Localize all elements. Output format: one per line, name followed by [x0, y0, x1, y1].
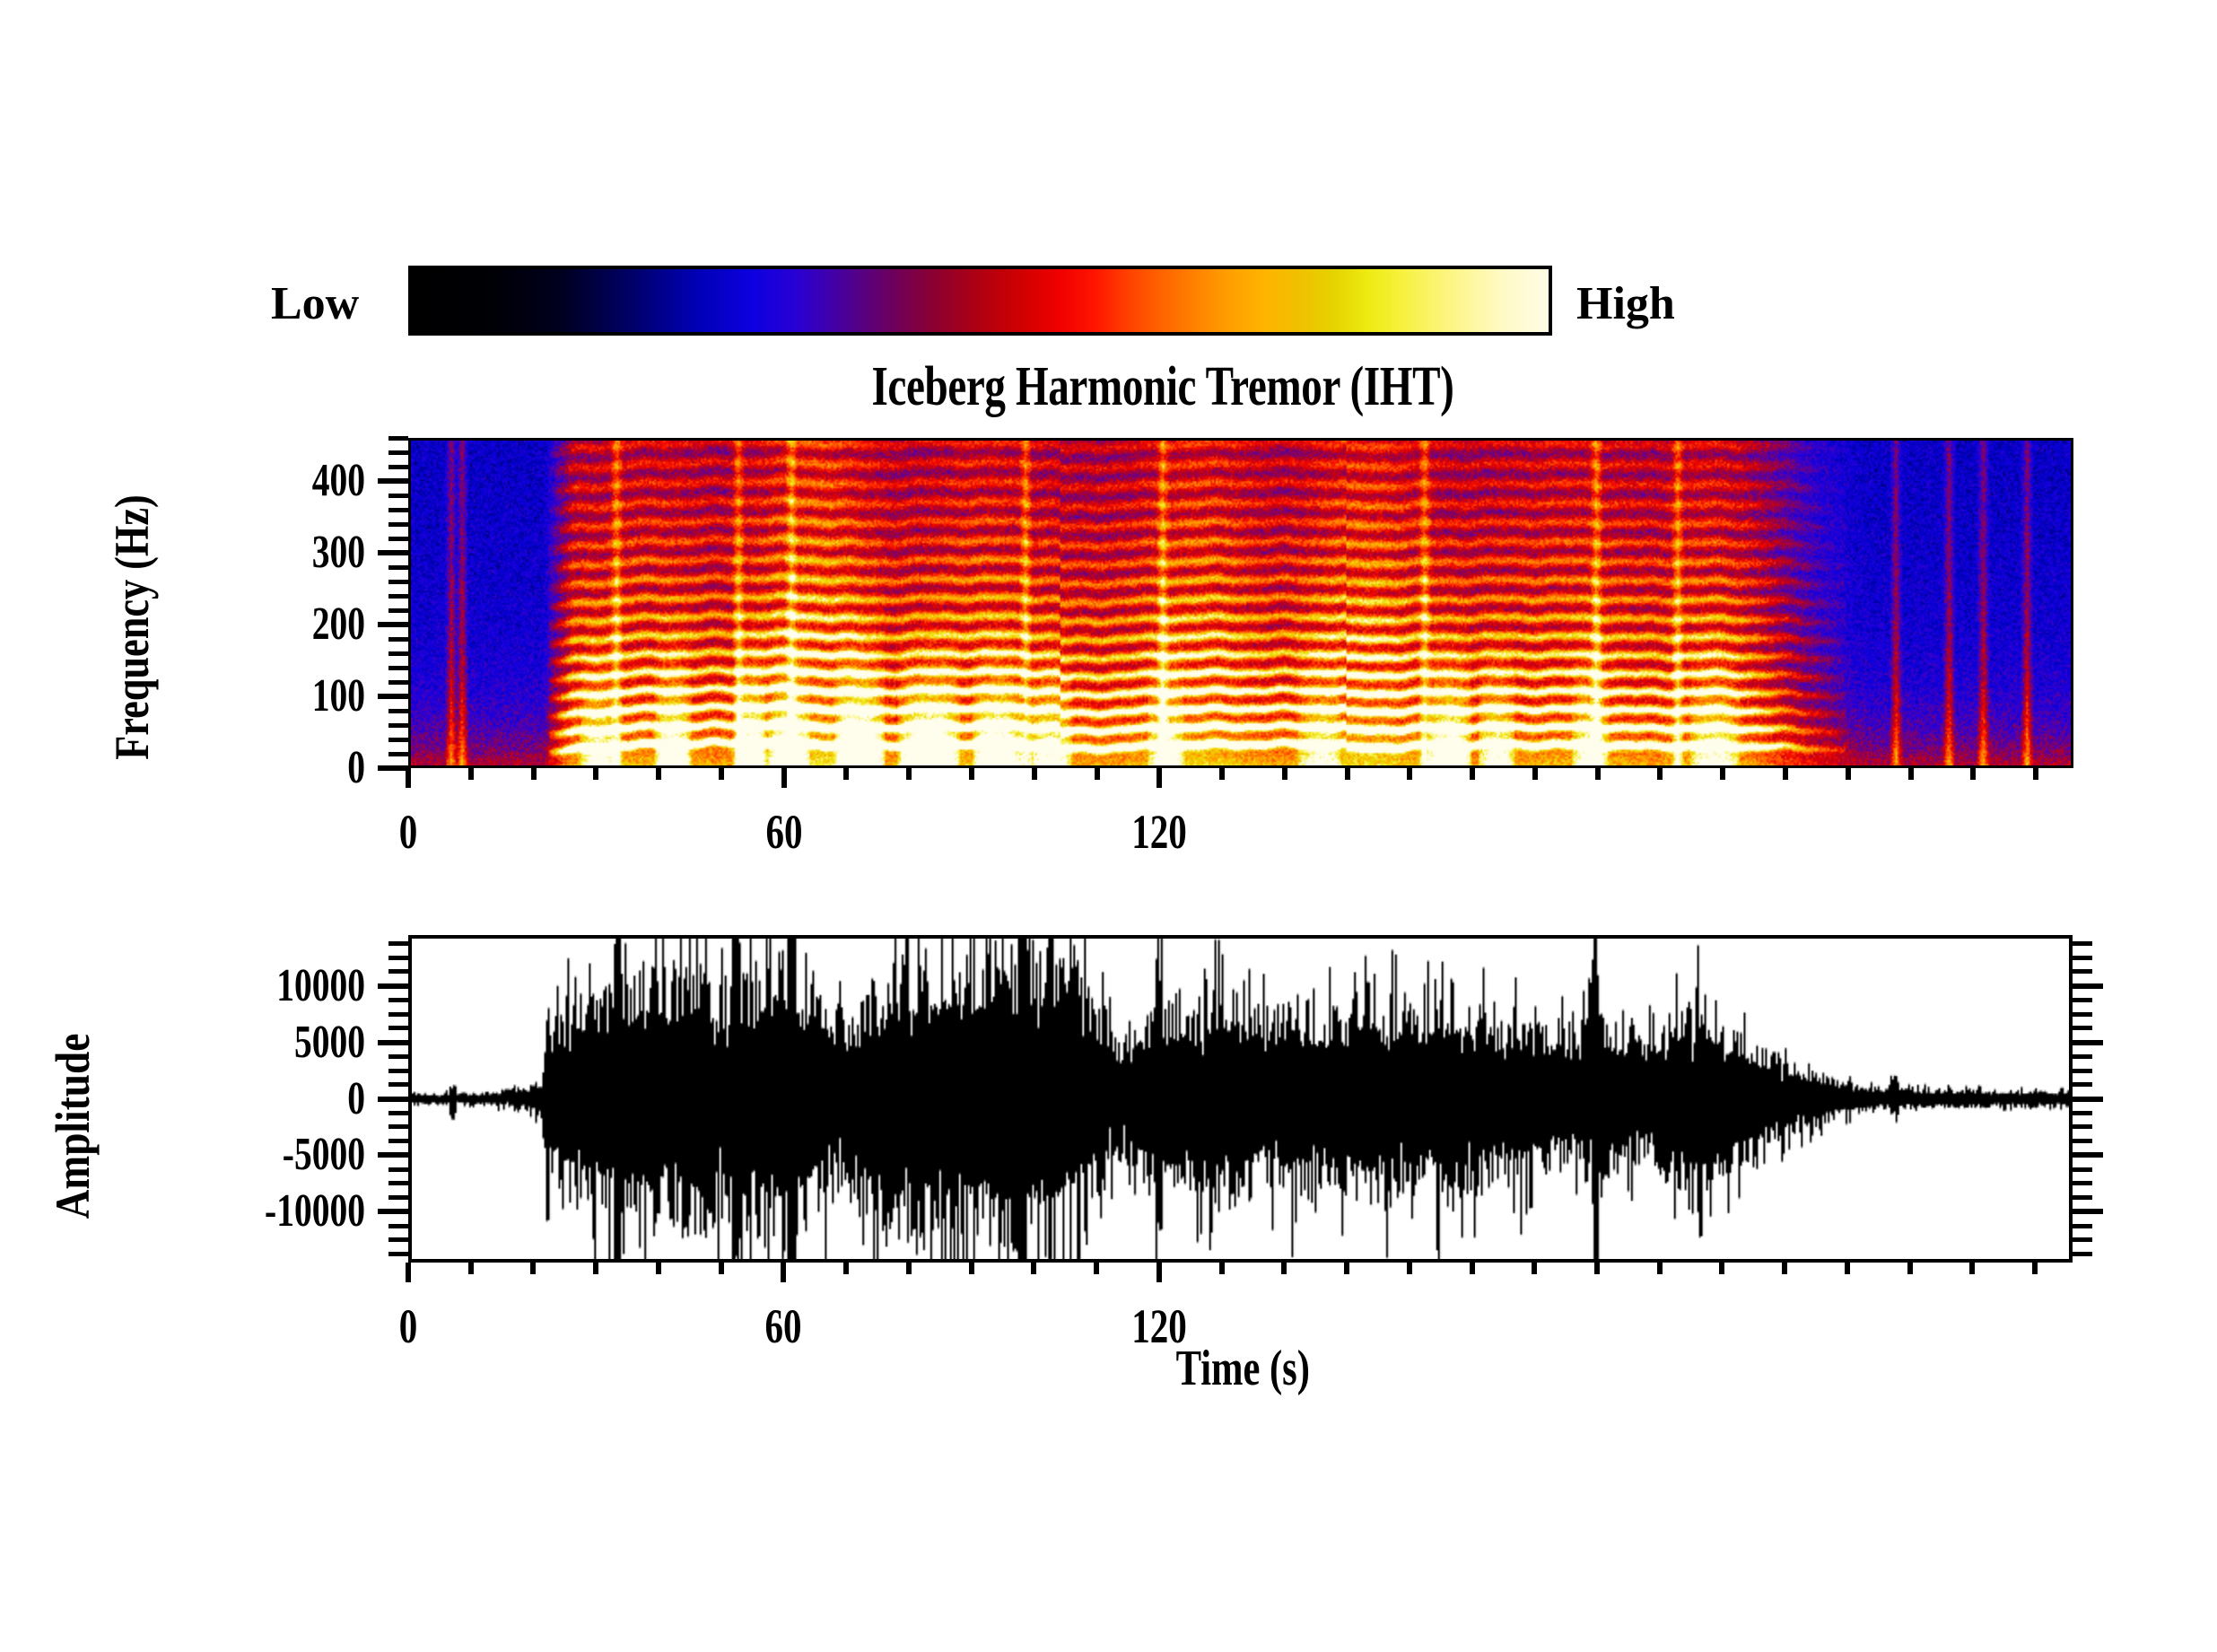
axis-tick	[719, 1263, 724, 1274]
colorbar-low-label: Low	[271, 281, 359, 328]
axis-tick	[1595, 768, 1601, 780]
axis-tick	[388, 608, 408, 613]
axis-tick	[2032, 1263, 2038, 1274]
spectrogram-y-tick-label-400: 400	[249, 458, 365, 504]
axis-tick	[1094, 1263, 1099, 1274]
waveform-x-tick-label-60: 60	[743, 1302, 825, 1350]
waveform-trace	[412, 939, 2069, 1259]
axis-tick	[906, 768, 912, 780]
axis-tick	[2073, 1082, 2092, 1087]
axis-tick	[593, 768, 598, 780]
axis-tick	[2073, 1252, 2092, 1256]
axis-tick	[1657, 1263, 1663, 1274]
axis-tick	[1219, 768, 1225, 780]
axis-tick	[388, 565, 408, 570]
axis-tick	[2073, 983, 2103, 989]
axis-tick	[1032, 768, 1037, 780]
axis-tick	[388, 1195, 408, 1200]
axis-tick	[388, 594, 408, 599]
axis-tick	[2073, 1026, 2092, 1030]
axis-tick	[1783, 768, 1788, 780]
axis-tick	[843, 1263, 849, 1274]
axis-tick	[531, 768, 537, 780]
spectrogram-x-tick-label-0: 0	[367, 808, 449, 856]
axis-tick	[388, 941, 408, 946]
spectrogram-plot-area	[408, 438, 2073, 768]
axis-tick	[388, 1139, 408, 1143]
axis-tick	[2073, 1209, 2103, 1214]
axis-tick	[406, 1263, 411, 1282]
axis-tick	[388, 956, 408, 960]
axis-tick	[388, 1224, 408, 1228]
axis-tick	[378, 983, 408, 989]
axis-tick	[656, 768, 661, 780]
axis-tick	[719, 768, 724, 780]
axis-tick	[2073, 998, 2092, 1002]
axis-tick	[2073, 969, 2092, 974]
axis-tick	[388, 738, 408, 742]
colorbar-high-label: High	[1576, 281, 1675, 328]
axis-tick	[1157, 1263, 1162, 1282]
waveform-y-axis-label: Amplitude	[48, 1034, 97, 1219]
axis-tick	[1720, 768, 1725, 780]
axis-tick	[388, 1167, 408, 1172]
axis-tick	[388, 709, 408, 713]
axis-tick	[388, 537, 408, 541]
axis-tick	[1095, 768, 1100, 780]
axis-tick	[2033, 768, 2038, 780]
axis-tick	[1782, 1263, 1787, 1274]
axis-tick	[1970, 768, 1976, 780]
axis-tick	[1969, 1263, 1975, 1274]
figure-root: Low High Iceberg Harmonic Tremor (IHT) F…	[0, 0, 2217, 1652]
axis-tick	[1846, 768, 1851, 780]
spectrogram-y-tick-label-0: 0	[249, 745, 365, 791]
axis-tick	[388, 522, 408, 527]
axis-tick	[1407, 1263, 1412, 1274]
axis-tick	[1532, 1263, 1537, 1274]
axis-tick	[388, 1237, 408, 1242]
axis-tick	[656, 1263, 661, 1274]
axis-tick	[1281, 1263, 1287, 1274]
axis-tick	[781, 768, 787, 788]
colorbar-gradient	[412, 269, 1549, 332]
axis-tick	[2073, 1224, 2092, 1228]
axis-tick	[2073, 1237, 2092, 1242]
axis-tick	[388, 752, 408, 756]
axis-tick	[1219, 1263, 1225, 1274]
axis-tick	[1470, 1263, 1475, 1274]
spectrogram-x-tick-label-60: 60	[743, 808, 825, 856]
axis-tick	[2073, 1069, 2092, 1073]
waveform-x-axis-label: Time (s)	[1176, 1343, 1310, 1394]
axis-tick	[388, 1054, 408, 1059]
axis-tick	[2073, 1040, 2103, 1045]
axis-tick	[1657, 768, 1663, 780]
axis-tick	[388, 1069, 408, 1073]
axis-tick	[2073, 1111, 2092, 1115]
axis-tick	[2073, 941, 2092, 946]
axis-tick	[1470, 768, 1475, 780]
axis-tick	[388, 1026, 408, 1030]
axis-tick	[1031, 1263, 1036, 1274]
waveform-y-tick-label--10000: -10000	[174, 1188, 365, 1235]
axis-tick	[1719, 1263, 1724, 1274]
axis-tick	[2073, 1097, 2103, 1102]
axis-tick	[378, 694, 408, 699]
waveform-y-tick-label-5000: 5000	[174, 1019, 365, 1066]
axis-tick	[2073, 1054, 2092, 1059]
axis-tick	[2073, 1139, 2092, 1143]
waveform-y-tick-label-10000: 10000	[174, 963, 365, 1010]
axis-tick	[1282, 768, 1287, 780]
axis-tick	[388, 1012, 408, 1017]
axis-tick	[2073, 1012, 2092, 1017]
axis-tick	[388, 651, 408, 656]
page-title: Iceberg Harmonic Tremor (IHT)	[871, 359, 1453, 415]
axis-tick	[378, 550, 408, 555]
axis-tick	[1157, 768, 1162, 788]
axis-tick	[969, 1263, 974, 1274]
waveform-y-tick-label-0: 0	[174, 1076, 365, 1123]
axis-tick	[2073, 1195, 2092, 1200]
axis-tick	[2073, 1181, 2092, 1185]
waveform-x-tick-label-0: 0	[367, 1302, 449, 1350]
spectrogram-y-tick-label-100: 100	[249, 673, 365, 720]
waveform-plot-area	[408, 935, 2073, 1263]
axis-tick	[1908, 768, 1914, 780]
axis-tick	[378, 622, 408, 627]
axis-tick	[468, 1263, 474, 1274]
axis-tick	[388, 998, 408, 1002]
axis-tick	[1532, 768, 1538, 780]
axis-tick	[388, 494, 408, 498]
axis-tick	[1907, 1263, 1913, 1274]
spectrogram-image	[411, 441, 2071, 765]
axis-tick	[781, 1263, 786, 1282]
axis-tick	[388, 1124, 408, 1129]
axis-tick	[388, 1181, 408, 1185]
axis-tick	[378, 1209, 408, 1214]
axis-tick	[378, 765, 408, 771]
axis-tick	[1594, 1263, 1600, 1274]
axis-tick	[2073, 1124, 2092, 1129]
axis-tick	[378, 1152, 408, 1158]
axis-tick	[906, 1263, 912, 1274]
axis-tick	[388, 508, 408, 512]
axis-tick	[388, 680, 408, 685]
axis-tick	[2073, 1152, 2103, 1158]
axis-tick	[388, 666, 408, 670]
axis-tick	[1845, 1263, 1850, 1274]
waveform-y-tick-label--5000: -5000	[174, 1132, 365, 1178]
axis-tick	[388, 723, 408, 728]
axis-tick	[1344, 1263, 1349, 1274]
axis-tick	[593, 1263, 598, 1274]
spectrogram-y-tick-label-300: 300	[249, 529, 365, 576]
axis-tick	[388, 465, 408, 469]
spectrogram-y-axis-label: Frequency (Hz)	[108, 494, 156, 760]
axis-tick	[378, 478, 408, 484]
axis-tick	[388, 1082, 408, 1087]
axis-tick	[530, 1263, 536, 1274]
axis-tick	[468, 768, 474, 780]
axis-tick	[388, 1252, 408, 1256]
axis-tick	[388, 436, 408, 441]
spectrogram-y-tick-label-200: 200	[249, 601, 365, 648]
axis-tick	[378, 1040, 408, 1045]
axis-tick	[388, 450, 408, 455]
axis-tick	[388, 637, 408, 642]
axis-tick	[378, 1097, 408, 1102]
axis-tick	[843, 768, 849, 780]
axis-tick	[2073, 1167, 2092, 1172]
axis-tick	[388, 1111, 408, 1115]
axis-tick	[969, 768, 974, 780]
axis-tick	[2073, 956, 2092, 960]
spectrogram-power-colorbar	[408, 266, 1552, 336]
axis-tick	[1345, 768, 1350, 780]
spectrogram-x-tick-label-120: 120	[1119, 808, 1200, 856]
axis-tick	[406, 768, 411, 788]
axis-tick	[388, 969, 408, 974]
axis-tick	[388, 580, 408, 584]
axis-tick	[1407, 768, 1412, 780]
